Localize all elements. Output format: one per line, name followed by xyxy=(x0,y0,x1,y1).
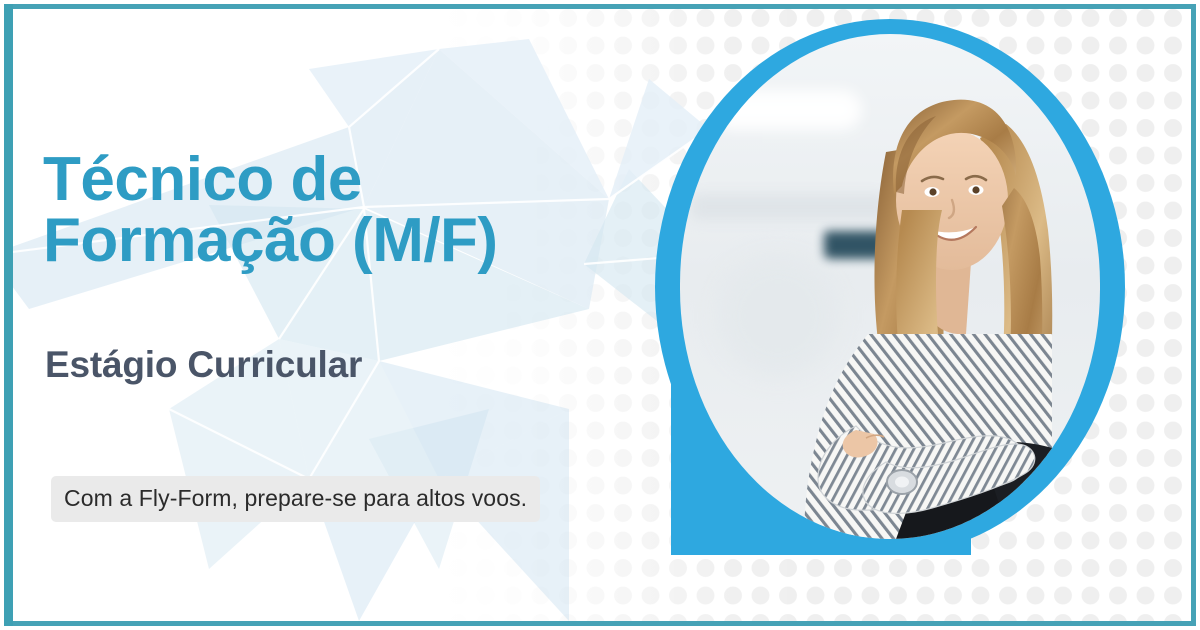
page-title: Técnico de Formação (M/F) xyxy=(43,149,643,272)
job-ad-banner: Técnico de Formação (M/F) Estágio Curric… xyxy=(0,0,1200,630)
businesswoman-figure xyxy=(680,34,1100,539)
banner-text-column: Técnico de Formação (M/F) Estágio Curric… xyxy=(43,9,663,621)
tagline-container: Com a Fly-Form, prepare-se para altos vo… xyxy=(51,476,540,522)
left-accent-bar xyxy=(4,4,13,626)
banner-stage: Técnico de Formação (M/F) Estágio Curric… xyxy=(9,9,1191,621)
portrait-block xyxy=(653,9,1191,621)
avatar xyxy=(680,34,1100,539)
banner-subtitle: Estágio Curricular xyxy=(45,344,362,386)
tagline-text: Com a Fly-Form, prepare-se para altos vo… xyxy=(51,476,540,522)
